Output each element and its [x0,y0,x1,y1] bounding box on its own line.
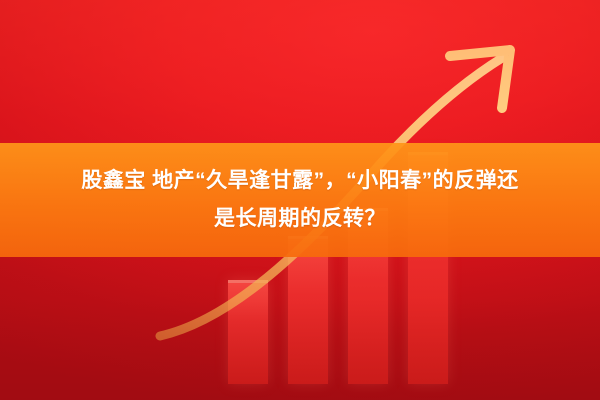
bar-1 [228,280,268,384]
promo-banner: 股鑫宝 地产“久旱逢甘露”，“小阳春”的反弹还 是长周期的反转？ [0,0,600,400]
bar-2 [288,236,328,384]
headline-band: 股鑫宝 地产“久旱逢甘露”，“小阳春”的反弹还 是长周期的反转？ [0,143,600,257]
bar-1-cap [228,280,268,283]
headline-text: 股鑫宝 地产“久旱逢甘露”，“小阳春”的反弹还 是长周期的反转？ [20,162,580,238]
headline-line-2: 是长周期的反转？ [20,200,580,238]
headline-line-1: 股鑫宝 地产“久旱逢甘露”，“小阳春”的反弹还 [20,162,580,200]
